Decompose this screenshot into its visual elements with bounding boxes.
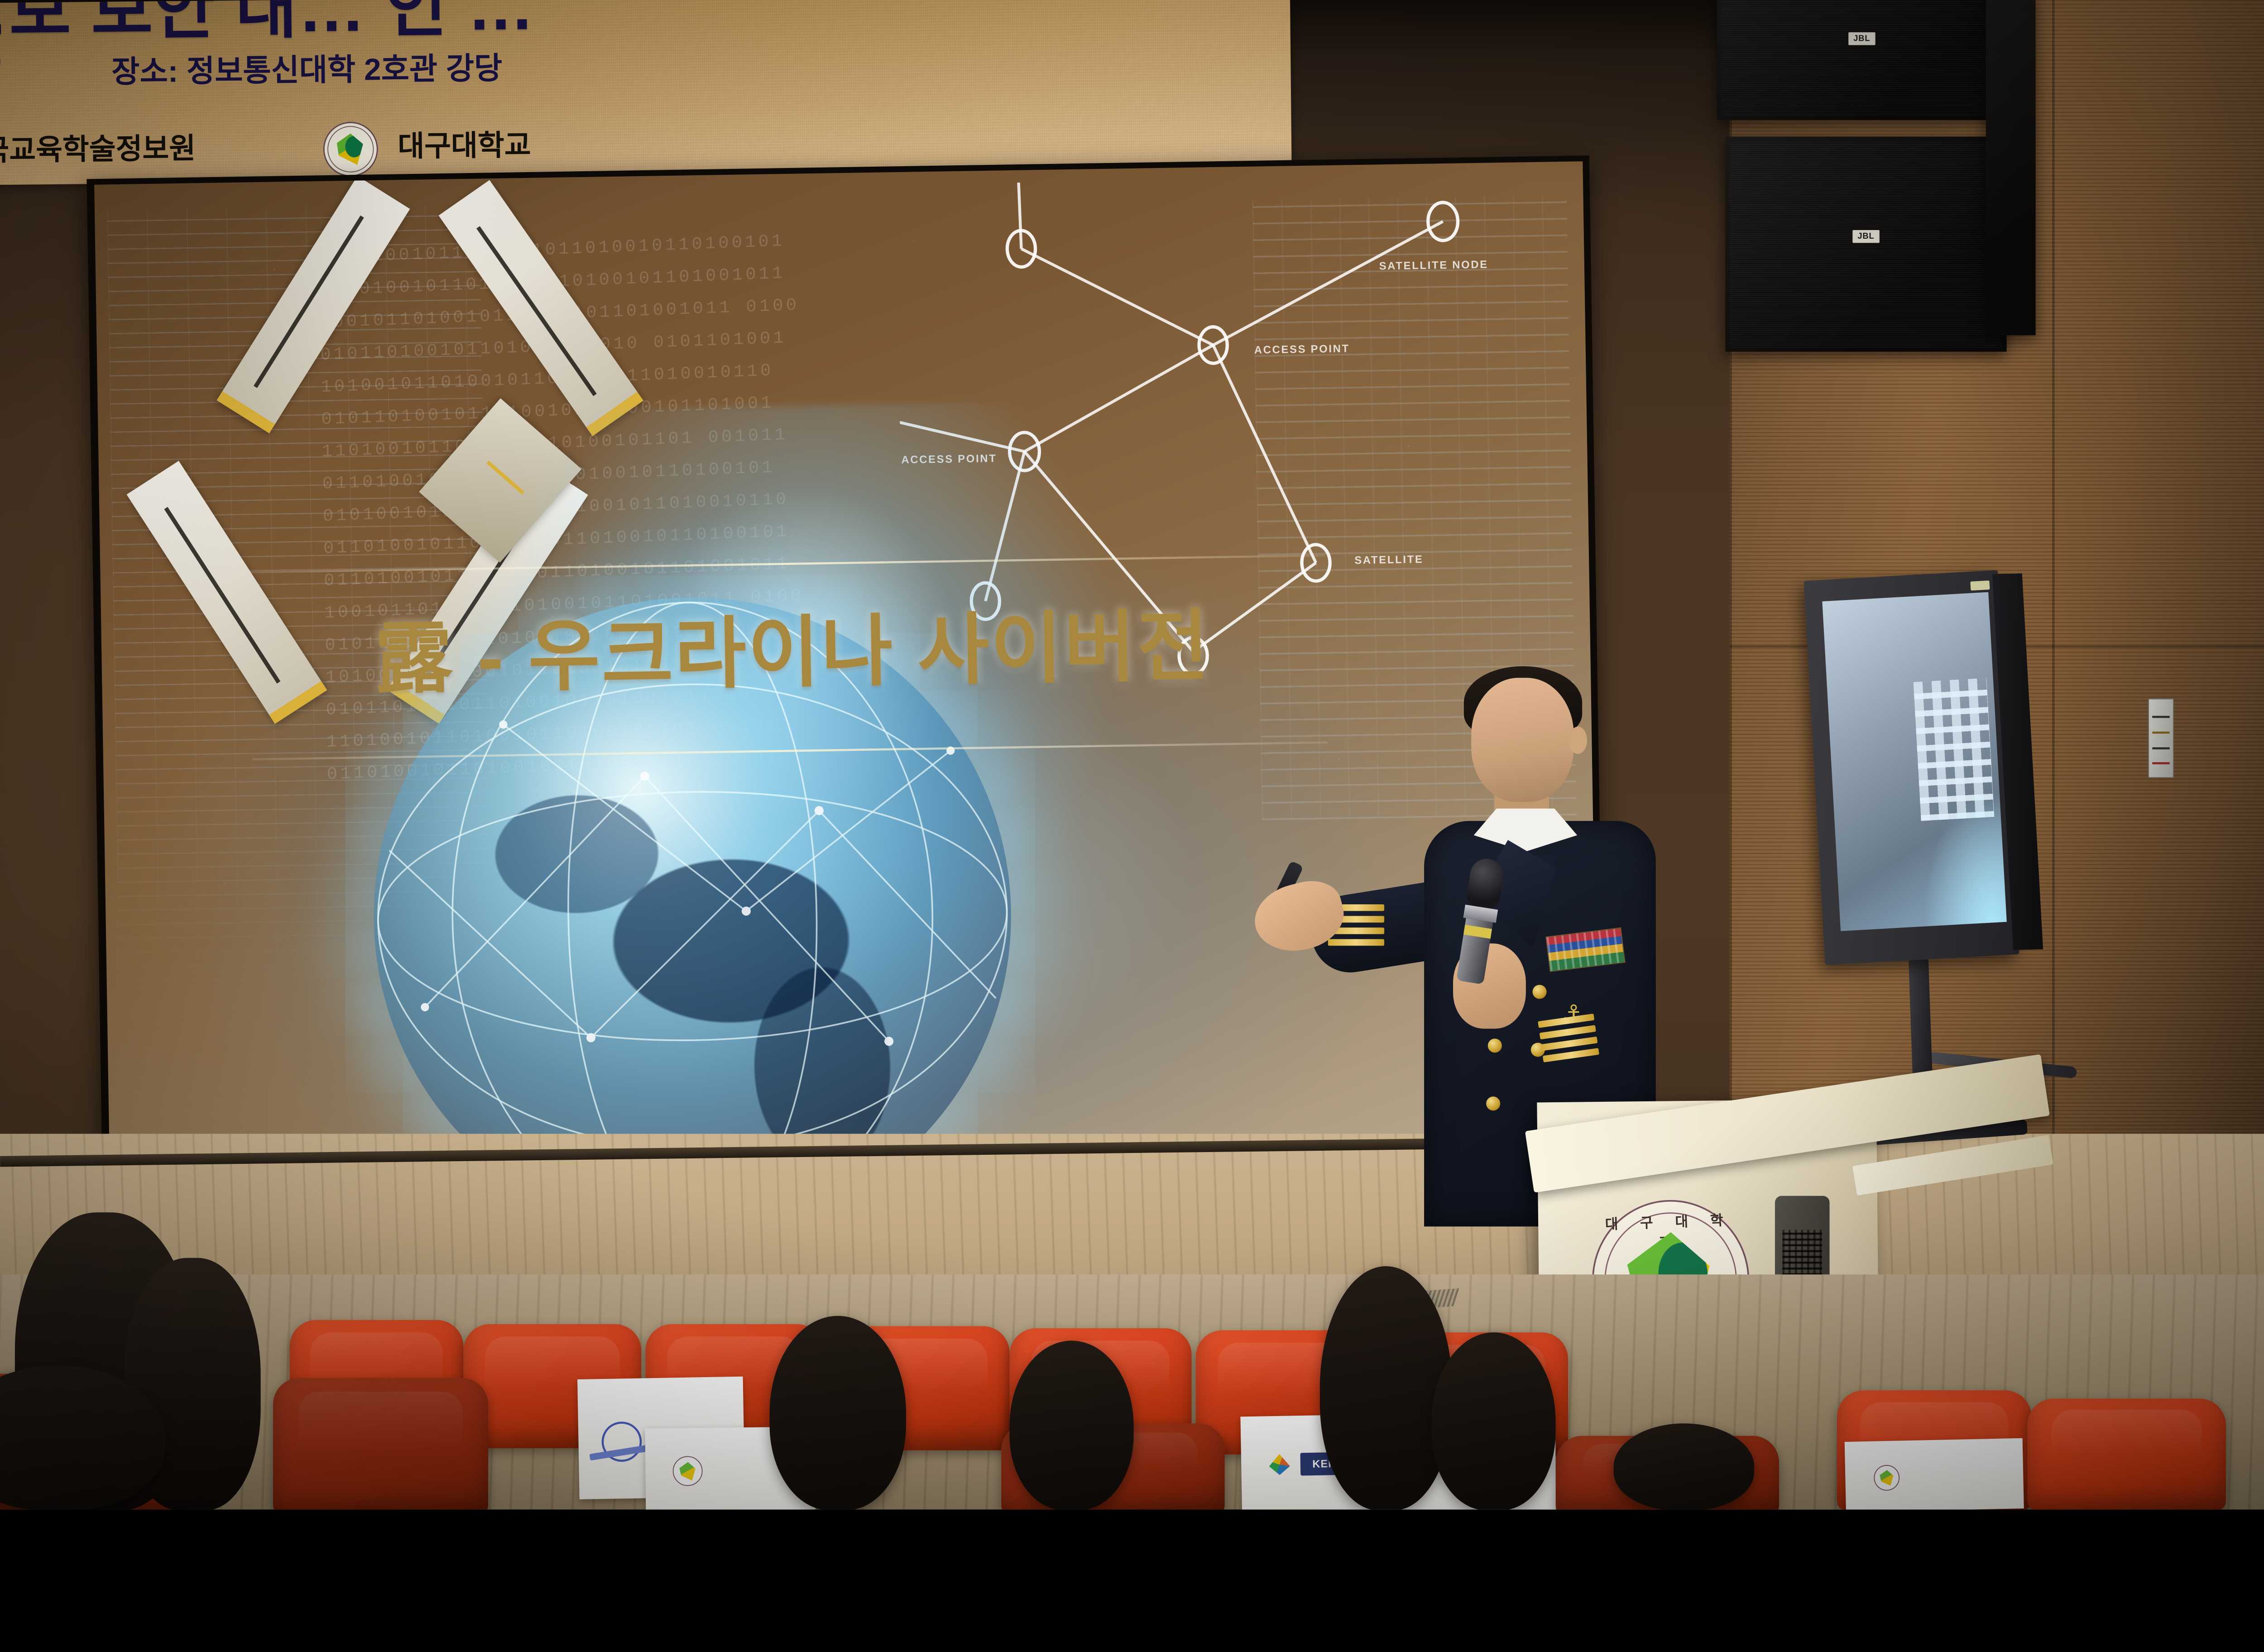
monitor-power-led xyxy=(1970,581,1990,591)
av-terminal xyxy=(2152,731,2169,734)
audience-member xyxy=(770,1316,907,1510)
speaker-grille xyxy=(1721,0,2002,116)
rank-stripe xyxy=(1540,1025,1596,1040)
network-label-satellite-node: SATELLITE NODE xyxy=(1379,258,1488,273)
daegu-university-seal-banner xyxy=(323,122,378,177)
paper-logo-icon xyxy=(601,1421,642,1462)
speaker-grille xyxy=(1729,141,2002,348)
uniform-button xyxy=(1486,1096,1500,1110)
daegu-logo-icon xyxy=(672,1456,702,1486)
wall-av-plate[interactable] xyxy=(2148,698,2174,778)
seat[interactable] xyxy=(2027,1398,2226,1509)
audience-member xyxy=(1320,1266,1452,1509)
network-label-satellite: SATELLITE xyxy=(1354,553,1424,567)
right-sleeve-rank xyxy=(1538,1012,1604,1081)
presenter-head xyxy=(1471,678,1574,802)
event-banner: …보 보안 대… 인 … 00 장소: 정보통신대학 2호관 강당 한국교육학술… xyxy=(0,0,1292,185)
uniform-button xyxy=(1533,985,1547,999)
rank-stripe xyxy=(1541,1037,1597,1051)
jbl-logo: JBL xyxy=(1848,32,1875,45)
daegu-logo-icon xyxy=(1874,1465,1900,1491)
seat[interactable] xyxy=(273,1378,488,1510)
uniform-button xyxy=(1488,1038,1502,1052)
monitor-content-glow xyxy=(1916,789,2007,931)
confidence-monitor[interactable] xyxy=(1804,570,2019,965)
slide-title: 露 - 우크라이나 사이버전 xyxy=(374,583,1211,709)
banner-venue: 장소: 정보통신대학 2호관 강당 xyxy=(111,43,503,91)
jbl-logo: JBL xyxy=(1852,230,1879,243)
av-terminal xyxy=(2152,762,2169,764)
av-terminal xyxy=(2152,747,2169,749)
audience-member xyxy=(1010,1341,1134,1510)
rank-stripe xyxy=(1328,939,1384,946)
ceiling-speaker-lower: JBL xyxy=(1725,137,2006,352)
ceiling-speaker-upper: JBL xyxy=(1717,0,2007,120)
speaker-side-panel xyxy=(1986,0,2036,335)
presenter-ear xyxy=(1569,727,1587,754)
audience-member xyxy=(1432,1332,1556,1509)
screenshot-root: JBL JBL …보 보안 대… 인 … 00 장소: 정보통신대학 2호관 강… xyxy=(0,0,2264,1509)
rank-stripe xyxy=(1543,1048,1599,1062)
av-terminal xyxy=(2152,716,2169,718)
monitor-screen xyxy=(1822,592,2006,932)
banner-org-daegu: 대구대학교 xyxy=(398,122,531,165)
wall-seam xyxy=(2052,0,2054,1142)
keris-logo-icon xyxy=(1269,1454,1290,1475)
audience-member xyxy=(1614,1423,1755,1509)
seat-paper[interactable] xyxy=(1845,1438,2024,1510)
banner-org-keris: 한국교육학술정보원 xyxy=(0,125,196,169)
network-label-access-point-1: ACCESS POINT xyxy=(1254,342,1350,356)
